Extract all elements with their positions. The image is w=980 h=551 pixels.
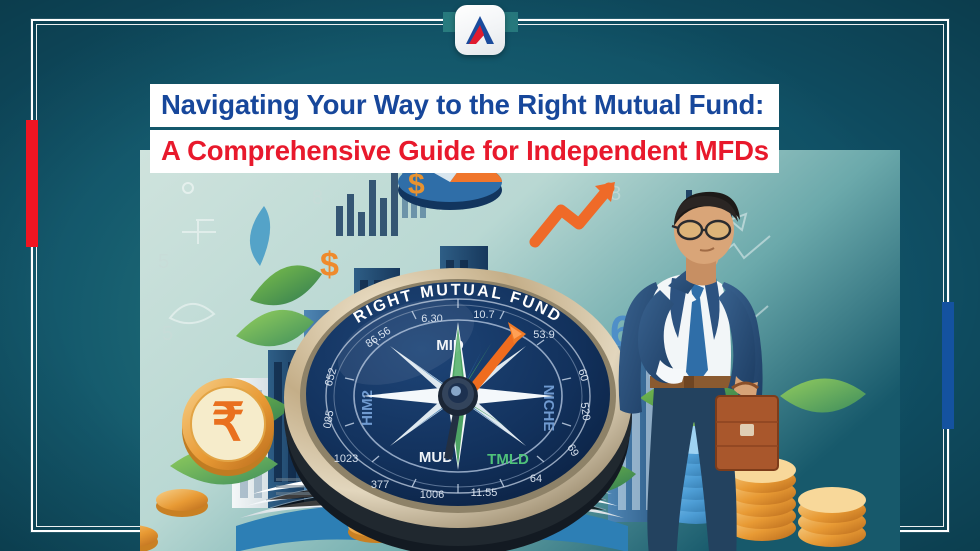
svg-text:53.9: 53.9 (533, 329, 554, 341)
accent-bar-left (26, 120, 38, 247)
svg-text:5: 5 (162, 323, 173, 345)
brand-logo-badge[interactable] (455, 5, 505, 55)
svg-text:$: $ (320, 246, 339, 284)
svg-text:1023: 1023 (334, 453, 358, 465)
svg-text:64: 64 (530, 473, 542, 485)
title-line-1: Navigating Your Way to the Right Mutual … (150, 84, 779, 127)
svg-text:8: 8 (312, 187, 323, 209)
title-block: Navigating Your Way to the Right Mutual … (150, 84, 779, 173)
accent-bar-right (942, 302, 954, 429)
svg-text:₹: ₹ (211, 394, 244, 452)
banner-canvas: 5 5 8 8 (0, 0, 980, 551)
hero-illustration: 5 5 8 8 (140, 150, 900, 551)
svg-text:11.55: 11.55 (471, 487, 498, 499)
svg-text:1006: 1006 (420, 489, 444, 501)
svg-text:TMLD: TMLD (487, 451, 529, 468)
svg-text:5: 5 (158, 251, 169, 273)
title-line-2: A Comprehensive Guide for Independent MF… (150, 130, 779, 173)
svg-text:377: 377 (371, 479, 389, 491)
svg-text:NICHE: NICHE (540, 385, 557, 432)
logo-a-icon (463, 14, 497, 46)
svg-text:520: 520 (578, 402, 592, 422)
svg-text:10.7: 10.7 (473, 309, 494, 321)
